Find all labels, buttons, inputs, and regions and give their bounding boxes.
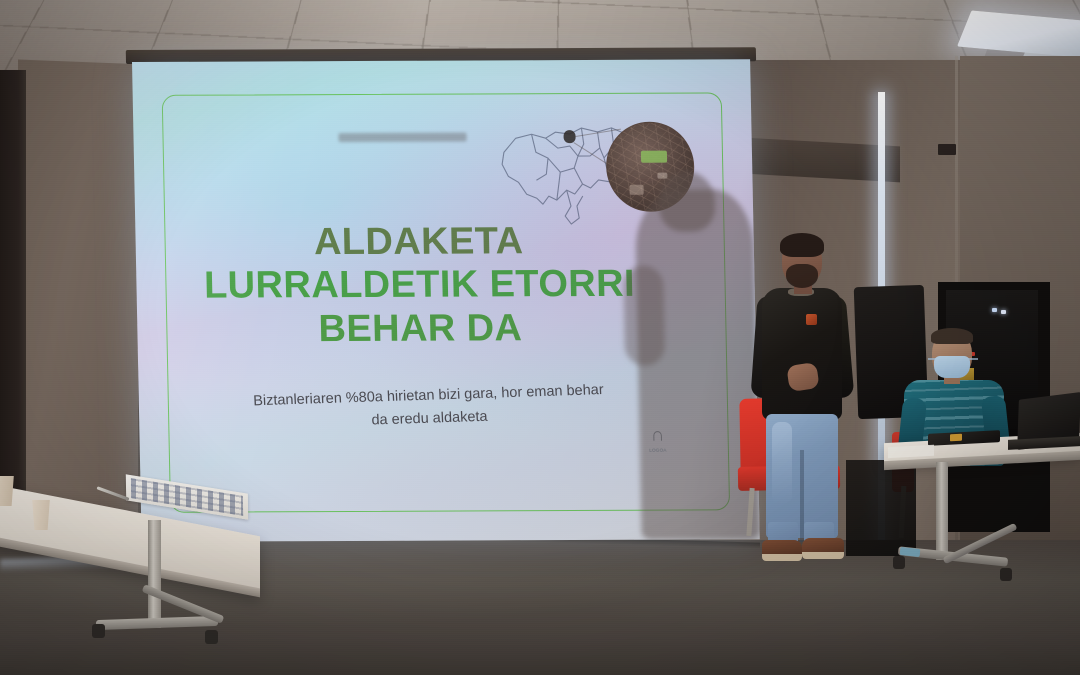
presenter-jeans-highlight: [772, 422, 792, 504]
wall-column: [18, 60, 146, 535]
presenter-shoe-sole: [802, 552, 844, 559]
desk-caster: [1000, 568, 1012, 581]
projected-slide: ALDAKETA LURRALDETIK ETORRI BEHAR DA Biz…: [132, 59, 760, 542]
presenter-chest-logo: [806, 314, 817, 325]
projection-vignette: [132, 59, 760, 542]
wall-plate: [938, 144, 956, 155]
desk-orange-item: [950, 434, 962, 442]
standing-presenter: [746, 236, 854, 566]
left-table-leg: [148, 520, 161, 628]
seated-attendee-hair: [931, 328, 973, 344]
presenter-hair: [780, 233, 824, 257]
presenter-sweater: [762, 288, 842, 420]
face-mask-icon: [934, 356, 970, 378]
desk-caster: [893, 556, 905, 569]
presentation-room-photo: ALDAKETA LURRALDETIK ETORRI BEHAR DA Biz…: [0, 0, 1080, 675]
table-caster: [92, 624, 105, 638]
presenter-beard: [786, 264, 818, 288]
projection-screen: ALDAKETA LURRALDETIK ETORRI BEHAR DA Biz…: [132, 59, 762, 560]
dark-object: [846, 460, 916, 556]
presenter-shoe-sole: [762, 554, 802, 561]
cabinet-indicator-light: [1001, 310, 1006, 314]
table-caster: [205, 630, 218, 644]
right-desk-leg: [936, 462, 948, 560]
cabinet-indicator-light: [992, 308, 997, 312]
